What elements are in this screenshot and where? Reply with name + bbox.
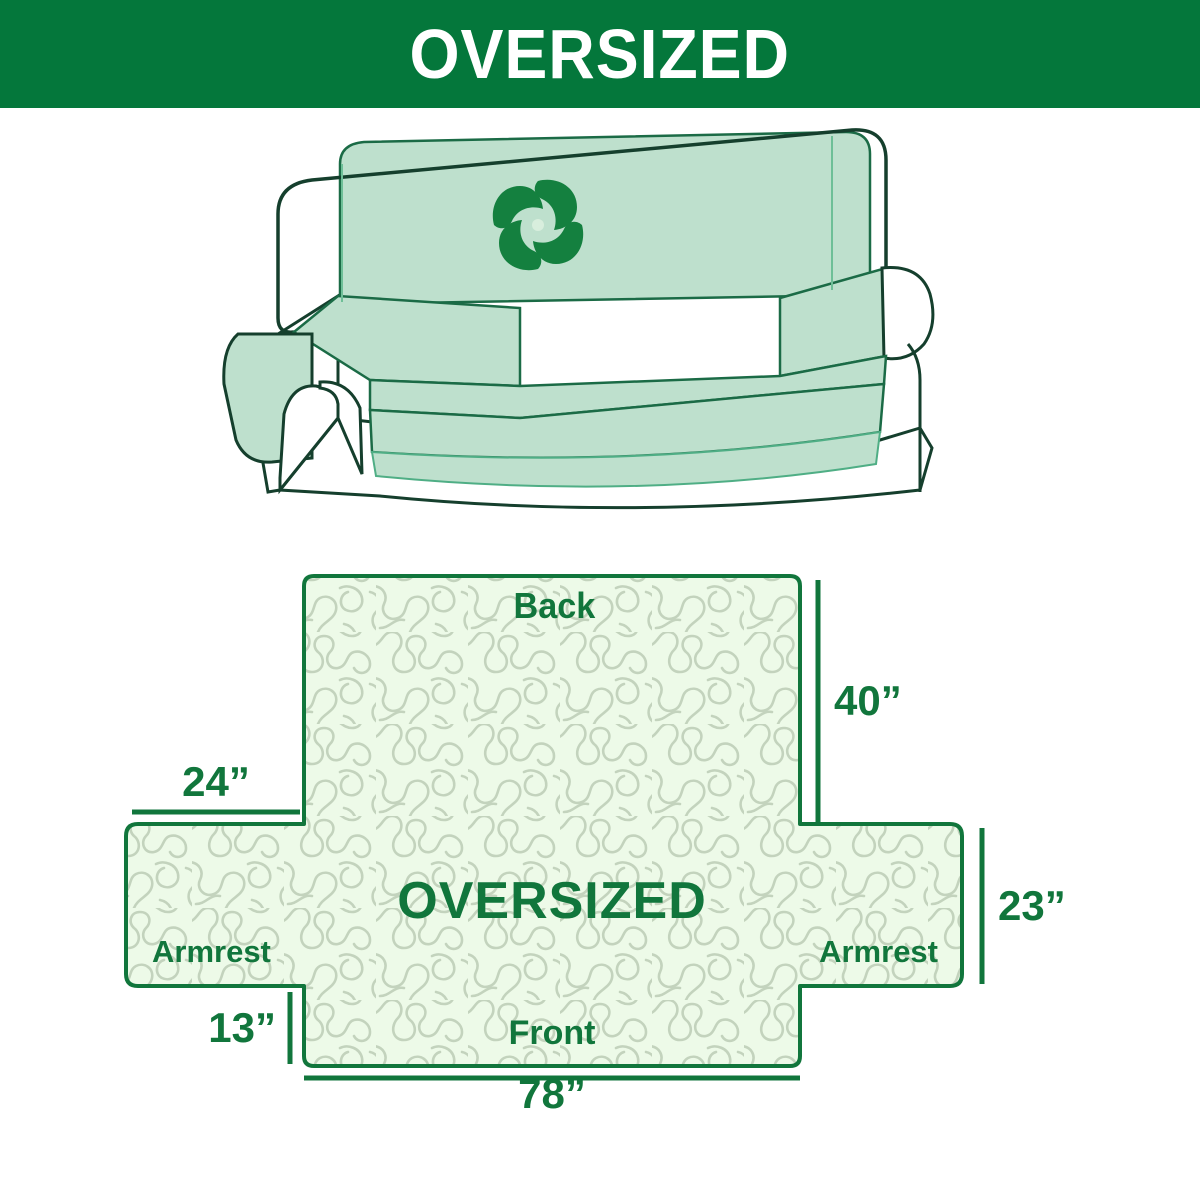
center-label-oversized: OVERSIZED — [397, 872, 707, 930]
dimension-value-24: 24” — [182, 758, 250, 805]
sofa-back-cushion — [340, 132, 870, 304]
panel-label-back: Back — [514, 586, 596, 626]
slipcover-flat-layout: Back Armrest Armrest Front OVERSIZED 40”… — [100, 540, 1100, 1110]
flat-layout-area: Back Armrest Armrest Front OVERSIZED 40”… — [0, 540, 1200, 1120]
slipcover-outline — [126, 576, 962, 1066]
pinwheel-fan-logo — [493, 180, 583, 270]
dimension-value-78: 78” — [518, 1070, 586, 1110]
dimension-front-drop: 13” — [208, 992, 290, 1064]
product-size-chart: OVERSIZED — [0, 0, 1200, 1200]
dimension-value-23: 23” — [998, 882, 1066, 929]
dimension-total-width: 78” — [304, 1070, 800, 1110]
panel-label-armrest-right: Armrest — [819, 934, 938, 969]
dimension-value-13: 13” — [208, 1004, 276, 1051]
panel-label-armrest-left: Armrest — [152, 934, 271, 969]
dimension-back-height: 40” — [818, 580, 902, 822]
panel-label-front: Front — [509, 1014, 596, 1052]
sofa-slipcover-illustration — [220, 118, 980, 518]
sofa-back-left-edge — [278, 214, 294, 332]
page-title: OVERSIZED — [410, 19, 790, 89]
dimension-value-40: 40” — [834, 677, 902, 724]
dimension-armrest-height: 23” — [982, 828, 1066, 984]
header-banner: OVERSIZED — [0, 0, 1200, 108]
sofa-illustration-area — [0, 118, 1200, 528]
dimension-armrest-width: 24” — [132, 758, 300, 812]
